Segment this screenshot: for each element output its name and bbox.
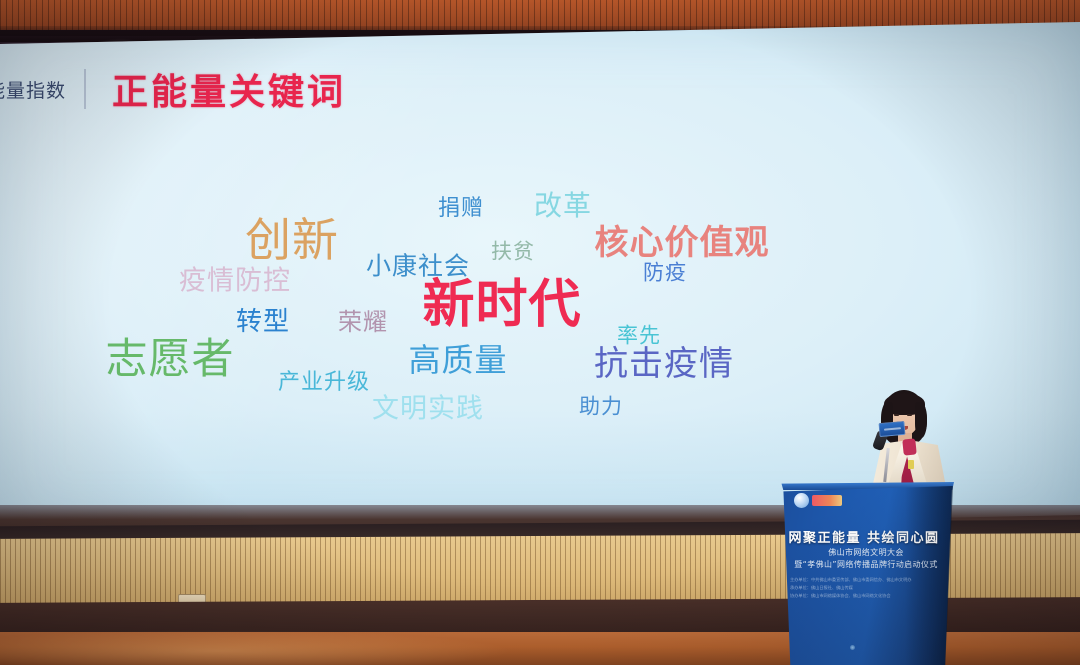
logo-emblem-icon — [794, 493, 809, 508]
fine-print-line-2: 承办单位：佛山日报社、佛山传媒 — [790, 584, 940, 592]
cloud-word: 扶贫 — [491, 242, 535, 263]
cloud-word: 志愿者 — [105, 338, 234, 380]
cloud-word: 率先 — [617, 326, 661, 347]
cloud-word: 疫情防控 — [179, 268, 291, 295]
cloud-word: 改革 — [534, 192, 592, 220]
logo-wordmark-icon — [812, 495, 842, 506]
cloud-word: 小康社会 — [366, 254, 470, 279]
badge-pin — [908, 460, 914, 469]
cloud-word: 荣耀 — [338, 310, 388, 334]
fine-print-line-1: 主办单位：中共佛山市委宣传部、佛山市委网信办、佛山市文明办 — [790, 576, 940, 584]
cloud-word: 高质量 — [408, 344, 507, 376]
cloud-word: 文明实践 — [372, 396, 484, 423]
hair-right — [915, 402, 927, 438]
cloud-word: 转型 — [236, 309, 290, 335]
podium-indicator-light — [850, 645, 855, 650]
presentation-photo: 能量指数 正能量关键词 新时代核心价值观创新志愿者抗击疫情高质量文明实践疫情防控… — [0, 0, 1080, 665]
eye-left — [894, 414, 899, 416]
cloud-word: 抗击疫情 — [594, 347, 734, 381]
scarf — [902, 438, 917, 455]
podium-fine-print: 主办单位：中共佛山市委宣传部、佛山市委网信办、佛山市文明办 承办单位：佛山日报社… — [790, 576, 940, 599]
podium-logo — [794, 492, 852, 509]
podium-headline: 网聚正能量 共绘同心圆 — [780, 527, 948, 546]
cloud-word: 助力 — [579, 397, 623, 418]
cloud-word: 创新 — [245, 217, 339, 263]
cloud-word: 防疫 — [643, 263, 687, 284]
podium-subtitle-1: 佛山市网络文明大会 — [782, 547, 950, 558]
podium-subtitle-2: 暨“孝佛山”网络传播品牌行动启动仪式 — [782, 559, 950, 570]
microphone-flag — [878, 421, 905, 437]
cloud-word: 产业升级 — [278, 372, 370, 394]
fine-print-line-3: 协办单位：佛山市网络媒体协会、佛山市网络文化协会 — [790, 592, 940, 600]
cloud-word: 新时代 — [422, 279, 581, 331]
cloud-word: 核心价值观 — [595, 226, 770, 260]
eye-right — [907, 414, 912, 416]
cloud-word: 捐赠 — [438, 198, 484, 220]
